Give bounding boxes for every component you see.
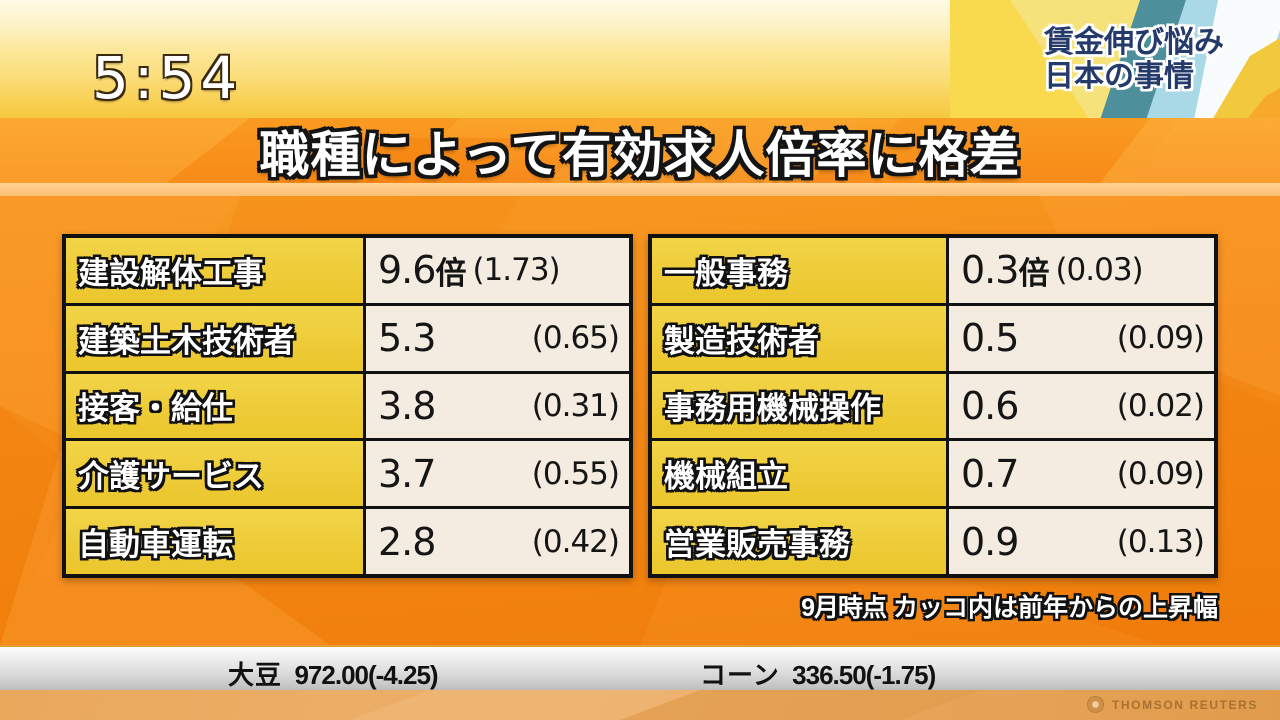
clock: 5:54	[92, 44, 242, 112]
right-ratio-value: 0.7	[961, 452, 1018, 496]
header-bar: 5:54 賃金伸び悩み 日本の事情	[0, 0, 1280, 120]
ticker-commodity-name: 大豆	[228, 660, 282, 690]
right-ratio-cell: 0.9(0.13)	[949, 509, 1214, 574]
left-ratio-value: 2.8	[378, 520, 435, 564]
occupation-table-right: 一般事務0.3倍(0.03)製造技術者0.5(0.09)事務用機械操作0.6(0…	[648, 234, 1218, 578]
right-yoy-delta: (0.13)	[1117, 524, 1204, 560]
right-ratio-cell: 0.5(0.09)	[949, 306, 1214, 371]
right-ratio-cell: 0.3倍(0.03)	[949, 238, 1214, 303]
right-yoy-delta: (0.09)	[1117, 456, 1204, 492]
ticker-item: コーン 336.50(-1.75)	[700, 655, 935, 692]
table-row: 機械組立0.7(0.09)	[652, 441, 1214, 509]
left-ratio-value: 3.8	[378, 384, 435, 428]
left-occupation-label: 建設解体工事	[66, 238, 366, 303]
footnote-note: カッコ内は前年からの上昇幅	[893, 594, 1218, 622]
left-yoy-delta: (0.31)	[532, 388, 619, 424]
right-yoy-delta: (0.09)	[1117, 320, 1204, 356]
thomson-reuters-logo-icon	[1087, 696, 1104, 713]
left-ratio-cell: 5.3(0.65)	[366, 306, 629, 371]
left-occupation-label: 接客・給仕	[66, 374, 366, 439]
right-occupation-label: 一般事務	[652, 238, 949, 303]
table-row: 製造技術者0.5(0.09)	[652, 306, 1214, 374]
right-occupation-label: 事務用機械操作	[652, 374, 949, 439]
table-row: 建設解体工事9.6倍(1.73)	[66, 238, 629, 306]
left-ratio-cell: 3.8(0.31)	[366, 374, 629, 439]
right-yoy-delta: (0.03)	[1055, 252, 1142, 288]
right-occupation-label: 製造技術者	[652, 306, 949, 371]
right-ratio-value: 0.5	[961, 316, 1018, 360]
table-footnote: 9月時点 カッコ内は前年からの上昇幅	[648, 588, 1218, 624]
footer-bar: THOMSON REUTERS	[0, 690, 1280, 720]
table-row: 建築土木技術者5.3(0.65)	[66, 306, 629, 374]
table-row: 接客・給仕3.8(0.31)	[66, 374, 629, 442]
right-ratio-cell: 0.7(0.09)	[949, 441, 1214, 506]
thomson-reuters-label: THOMSON REUTERS	[1112, 698, 1258, 712]
left-ratio-value: 5.3	[378, 316, 435, 360]
left-occupation-label: 建築土木技術者	[66, 306, 366, 371]
program-topic-label: 賃金伸び悩み 日本の事情	[1044, 26, 1224, 93]
main-content: 建設解体工事9.6倍(1.73)建築土木技術者5.3(0.65)接客・給仕3.8…	[0, 196, 1280, 645]
left-ratio-cell: 3.7(0.55)	[366, 441, 629, 506]
program-topic-line-2: 日本の事情	[1044, 60, 1224, 94]
ticker-commodity-value: 336.50(-1.75)	[780, 660, 936, 690]
table-row: 営業販売事務0.9(0.13)	[652, 509, 1214, 574]
left-yoy-delta: (1.73)	[472, 252, 559, 288]
page-title: 職種によって有効求人倍率に格差	[0, 118, 1280, 184]
table-row: 一般事務0.3倍(0.03)	[652, 238, 1214, 306]
title-banner: 職種によって有効求人倍率に格差	[0, 118, 1280, 196]
right-ratio-cell: 0.6(0.02)	[949, 374, 1214, 439]
table-row: 自動車運転2.8(0.42)	[66, 509, 629, 574]
right-occupation-label: 営業販売事務	[652, 509, 949, 574]
footnote-period: 9月時点	[801, 594, 886, 622]
left-ratio-value: 3.7	[378, 452, 435, 496]
table-row: 事務用機械操作0.6(0.02)	[652, 374, 1214, 442]
ticker-commodity-name: コーン	[700, 660, 780, 690]
left-ratio-unit: 倍	[435, 248, 466, 293]
table-row: 介護サービス3.7(0.55)	[66, 441, 629, 509]
left-yoy-delta: (0.42)	[532, 524, 619, 560]
left-ratio-value: 9.6	[378, 248, 435, 292]
right-yoy-delta: (0.02)	[1117, 388, 1204, 424]
right-ratio-value: 0.9	[961, 520, 1018, 564]
occupation-table-left: 建設解体工事9.6倍(1.73)建築土木技術者5.3(0.65)接客・給仕3.8…	[62, 234, 633, 578]
thomson-reuters-watermark: THOMSON REUTERS	[1087, 696, 1258, 713]
left-yoy-delta: (0.55)	[532, 456, 619, 492]
left-ratio-cell: 9.6倍(1.73)	[366, 238, 629, 303]
right-occupation-label: 機械組立	[652, 441, 949, 506]
left-occupation-label: 介護サービス	[66, 441, 366, 506]
left-ratio-cell: 2.8(0.42)	[366, 509, 629, 574]
right-ratio-unit: 倍	[1018, 248, 1049, 293]
left-occupation-label: 自動車運転	[66, 509, 366, 574]
left-yoy-delta: (0.65)	[532, 320, 619, 356]
right-ratio-value: 0.6	[961, 384, 1018, 428]
ticker-commodity-value: 972.00(-4.25)	[282, 660, 438, 690]
banner-bottom-strip	[0, 183, 1280, 196]
ticker-item: 大豆 972.00(-4.25)	[228, 655, 438, 692]
program-topic-line-1: 賃金伸び悩み	[1044, 26, 1224, 60]
commodity-ticker-bar: 大豆 972.00(-4.25)コーン 336.50(-1.75)	[0, 645, 1280, 690]
right-ratio-value: 0.3	[961, 248, 1018, 292]
